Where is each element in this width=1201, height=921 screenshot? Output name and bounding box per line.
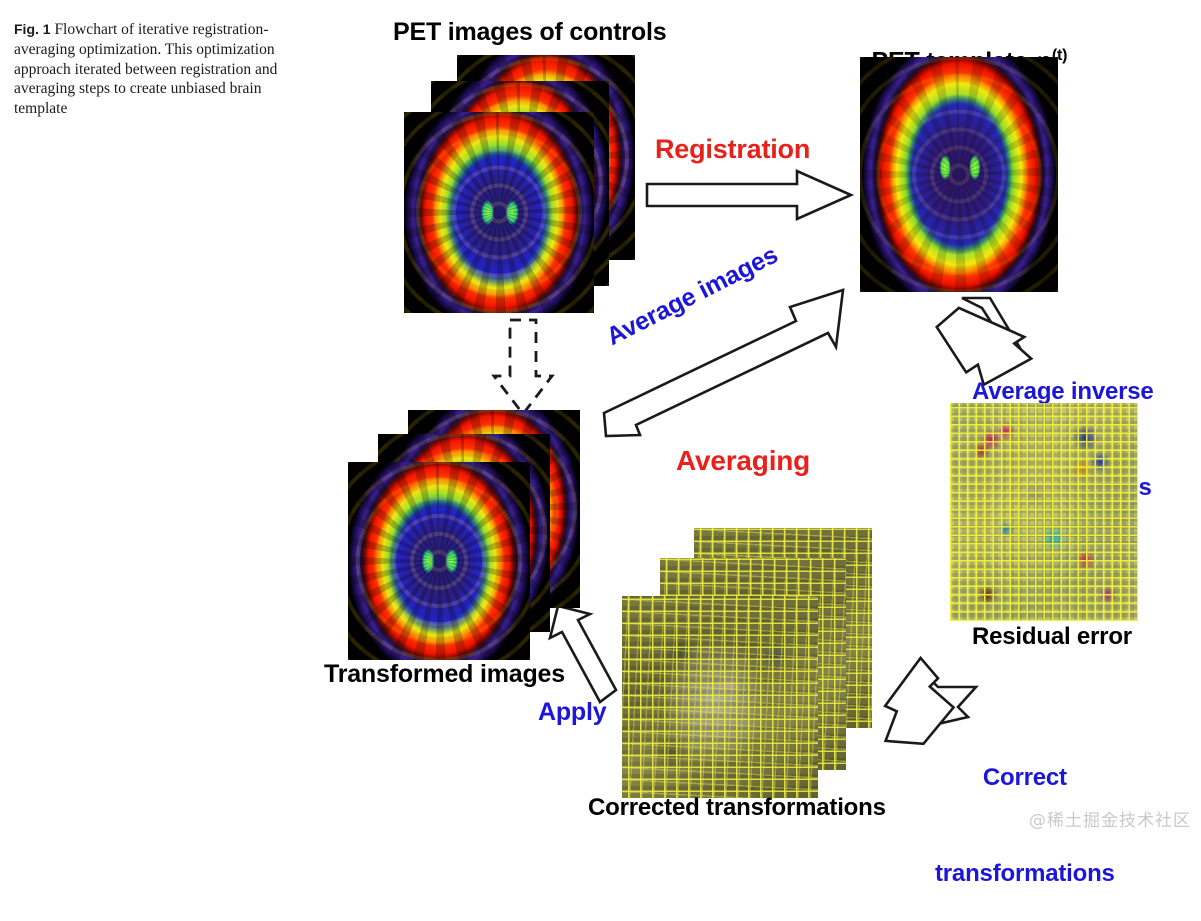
residual-error-image — [950, 403, 1138, 621]
registration-label: Registration — [655, 134, 810, 165]
transformed-slice-front — [348, 462, 530, 660]
watermark: @稀土掘金技术社区 — [1029, 806, 1191, 831]
pet-images-of-controls-stack — [404, 55, 636, 313]
figure-caption-text: Flowchart of iterative registration-aver… — [14, 21, 277, 117]
apply-label: Apply — [538, 698, 606, 727]
figure-number: Fig. 1 — [14, 21, 51, 37]
averaging-label: Averaging — [676, 445, 810, 477]
corrected-transformations-stack — [622, 528, 902, 798]
residual-error-label: Residual error — [972, 623, 1132, 651]
iteration-dashed-arrow — [488, 318, 558, 418]
pet-template-image — [860, 57, 1058, 292]
correct-transformations-line1: Correct — [935, 762, 1115, 794]
transformed-images-stack — [348, 410, 588, 660]
pet-images-label: PET images of controls — [393, 18, 666, 47]
correct-transformations-line2: transformations — [935, 858, 1115, 890]
pet-slice-front — [404, 112, 594, 313]
corrected-transformations-label: Corrected transformations — [588, 794, 886, 822]
registration-arrow — [645, 168, 855, 223]
transformed-images-label: Transformed images — [324, 660, 565, 689]
figure-caption: Fig. 1 Flowchart of iterative registrati… — [14, 20, 282, 119]
